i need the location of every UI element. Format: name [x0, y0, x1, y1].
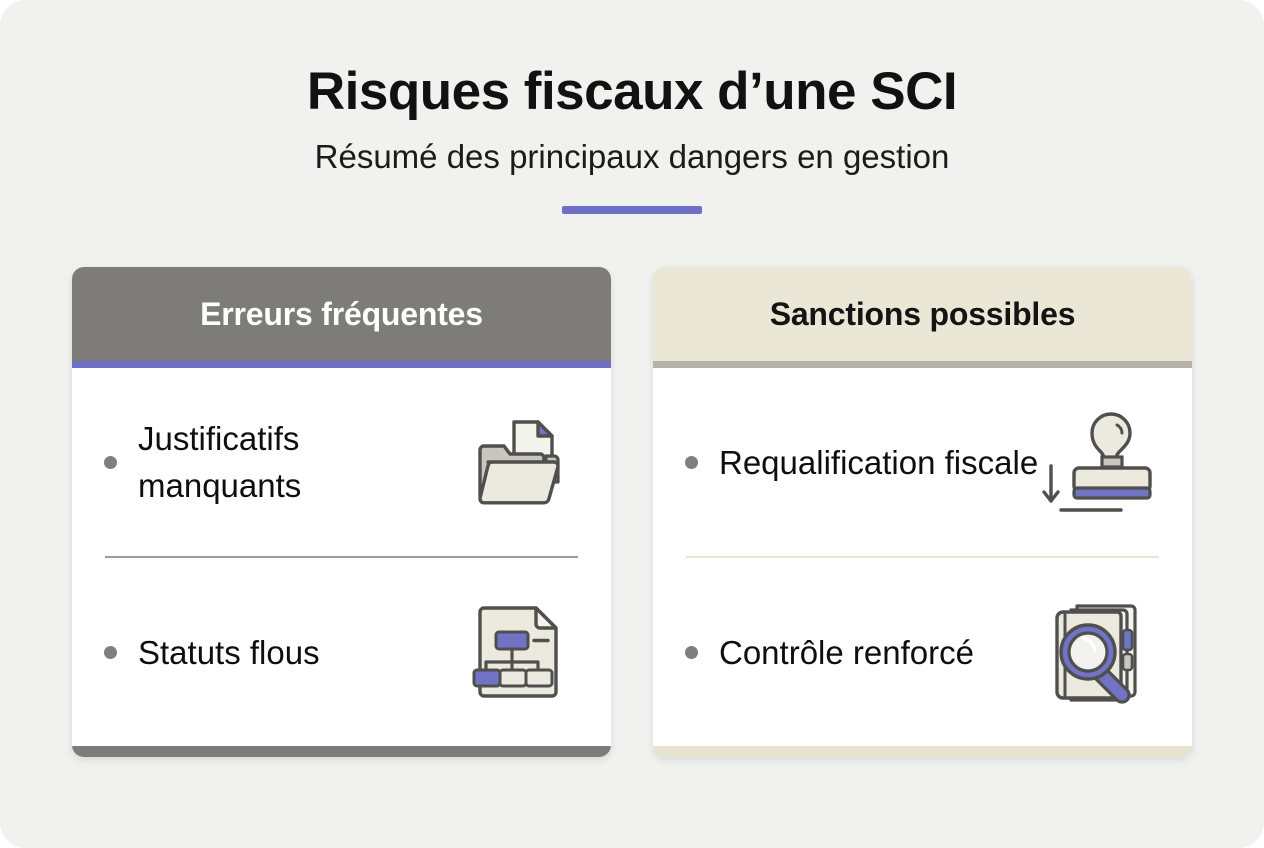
- list-item[interactable]: Justificatifs manquants: [72, 368, 611, 556]
- list-item-label: Statuts flous: [138, 629, 458, 676]
- page-title: Risques fiscaux d’une SCI: [0, 60, 1264, 124]
- card-body-sanctions: Requalification fiscale: [653, 368, 1192, 746]
- bullet-icon: [685, 456, 698, 469]
- bullet-icon: [104, 646, 117, 659]
- card-accent-bar-sanctions: [653, 361, 1192, 368]
- infographic-page: Risques fiscaux d’une SCI Résumé des pri…: [0, 0, 1264, 848]
- card-title-sanctions: Sanctions possibles: [770, 296, 1076, 333]
- list-item[interactable]: Requalification fiscale: [653, 368, 1192, 556]
- list-item[interactable]: Contrôle renforcé: [653, 558, 1192, 746]
- card-erreurs-frequentes: Erreurs fréquentes Justificatifs manquan…: [72, 267, 611, 757]
- card-footer-bar-sanctions: [653, 746, 1192, 757]
- bullet-icon: [685, 646, 698, 659]
- list-item-label: Requalification fiscale: [719, 439, 1039, 486]
- bullet-icon: [104, 456, 117, 469]
- rubber-stamp-icon: [1039, 400, 1163, 524]
- folder-documents-icon: [458, 400, 582, 524]
- cards-container: Erreurs fréquentes Justificatifs manquan…: [72, 267, 1192, 757]
- page-header: Risques fiscaux d’une SCI Résumé des pri…: [0, 0, 1264, 214]
- card-sanctions-possibles: Sanctions possibles Requalification fisc…: [653, 267, 1192, 757]
- list-item[interactable]: Statuts flous: [72, 558, 611, 746]
- notebook-magnifier-icon: [1039, 590, 1163, 714]
- header-accent-rule: [562, 206, 702, 214]
- org-chart-document-icon: [458, 590, 582, 714]
- card-header-sanctions: Sanctions possibles: [653, 267, 1192, 361]
- list-item-label: Justificatifs manquants: [138, 415, 458, 509]
- card-footer-bar-erreurs: [72, 746, 611, 757]
- page-subtitle: Résumé des principaux dangers en gestion: [0, 136, 1264, 178]
- card-accent-bar-erreurs: [72, 361, 611, 368]
- card-header-erreurs: Erreurs fréquentes: [72, 267, 611, 361]
- list-item-label: Contrôle renforcé: [719, 629, 1039, 676]
- card-body-erreurs: Justificatifs manquants: [72, 368, 611, 746]
- card-title-erreurs: Erreurs fréquentes: [200, 296, 483, 333]
